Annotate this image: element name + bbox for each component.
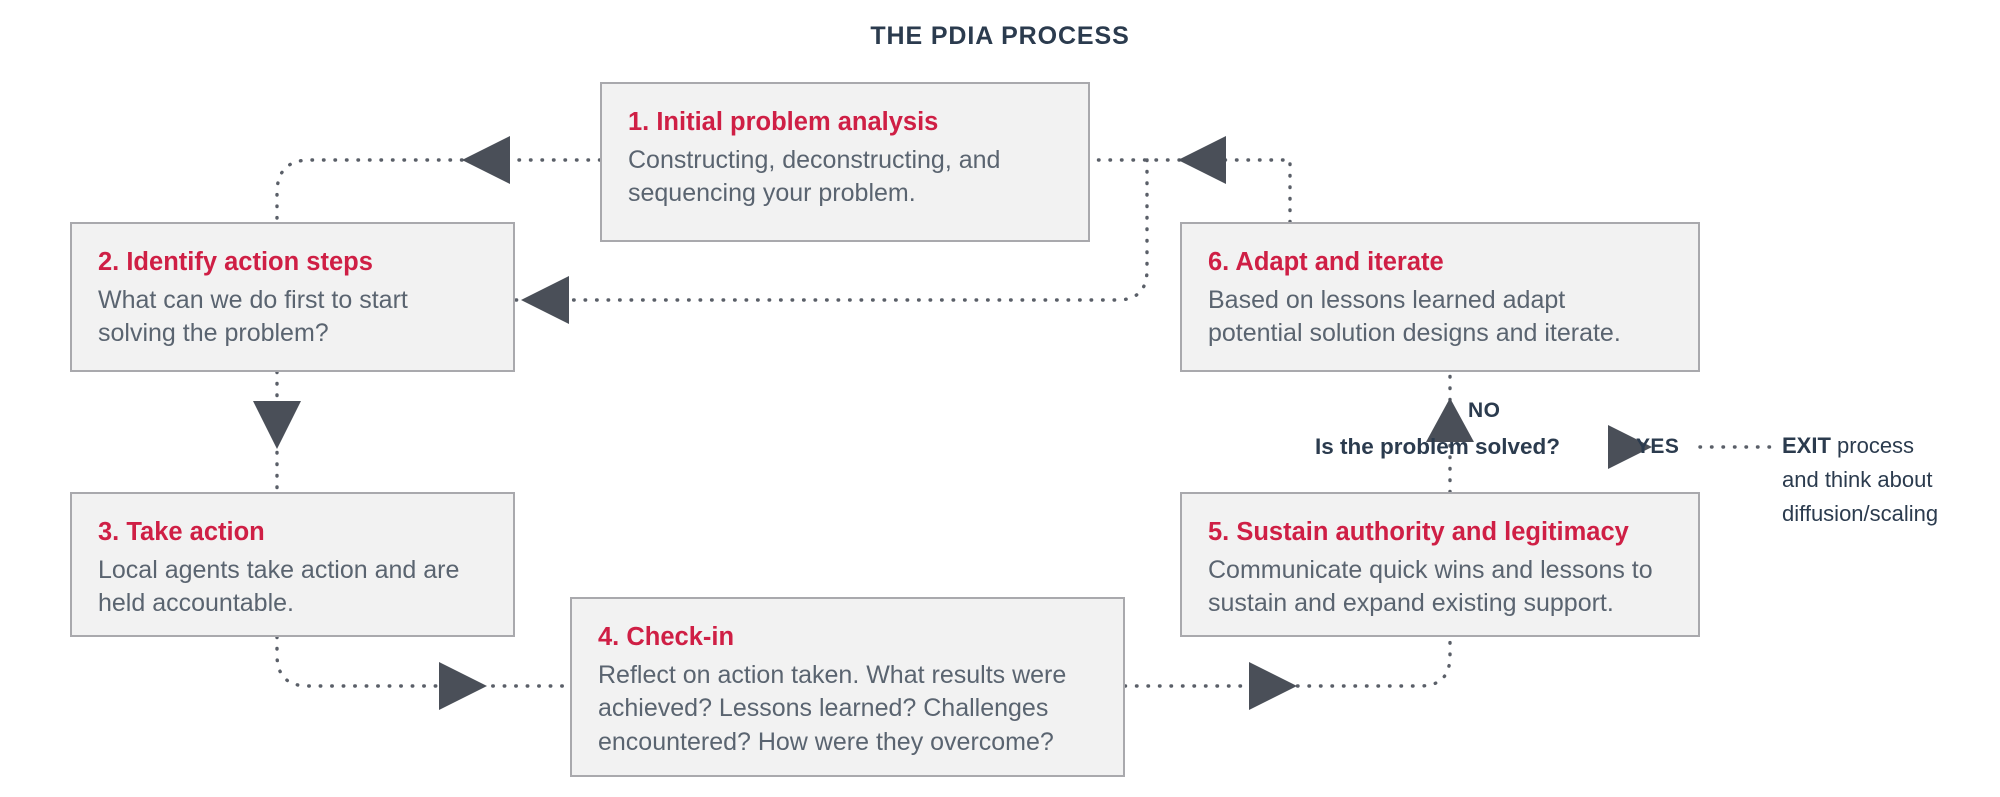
connector-6-to-1 (1090, 160, 1290, 222)
step-1-title: 1. Initial problem analysis (628, 106, 1062, 139)
arrowhead-into-step-3 (253, 401, 301, 449)
step-1-body: Constructing, deconstructing, and sequen… (628, 144, 1062, 211)
exit-note: EXIT process and think about diffusion/s… (1782, 429, 1992, 531)
exit-strong-label: EXIT (1782, 433, 1831, 458)
connector-3-to-4 (277, 637, 570, 686)
arrowhead-into-step-5 (1249, 662, 1297, 710)
step-4-title: 4. Check-in (598, 621, 1097, 654)
step-2-body-line-1: What can we do first to start (98, 284, 487, 318)
step-4-body-line-3: encountered? How were they overcome? (598, 726, 1097, 760)
decision-yes-label: YES (1636, 435, 1679, 459)
arrowhead-into-step-4 (439, 662, 487, 710)
step-4-body: Reflect on action taken. What results we… (598, 659, 1097, 760)
step-6-body-line-1: Based on lessons learned adapt (1208, 284, 1672, 318)
step-6-body: Based on lessons learned adapt potential… (1208, 284, 1672, 351)
step-5-body: Communicate quick wins and lessons to su… (1208, 554, 1672, 621)
exit-line-2: and think about (1782, 463, 1992, 497)
step-5-body-line-2: sustain and expand existing support. (1208, 587, 1672, 621)
step-3-title: 3. Take action (98, 516, 487, 549)
step-3-box[interactable]: 3. Take action Local agents take action … (70, 492, 515, 637)
step-2-title: 2. Identify action steps (98, 246, 487, 279)
step-3-body-line-2: held accountable. (98, 587, 487, 621)
decision-no-label: NO (1468, 399, 1500, 423)
step-3-body: Local agents take action and are held ac… (98, 554, 487, 621)
step-5-body-line-1: Communicate quick wins and lessons to (1208, 554, 1672, 588)
arrowhead-into-step-1-right (1178, 136, 1226, 184)
step-6-title: 6. Adapt and iterate (1208, 246, 1672, 279)
step-2-body-line-2: solving the problem? (98, 317, 487, 351)
exit-line-1: EXIT process (1782, 429, 1992, 463)
decision-question-label: Is the problem solved? (1315, 434, 1560, 460)
arrowhead-into-step-2-top (462, 136, 510, 184)
step-6-body-line-2: potential solution designs and iterate. (1208, 317, 1672, 351)
exit-line-1-rest: process (1831, 433, 1914, 458)
step-1-body-line-1: Constructing, deconstructing, and (628, 144, 1062, 178)
step-4-body-line-2: achieved? Lessons learned? Challenges (598, 692, 1097, 726)
connector-1-to-2-top (277, 160, 600, 222)
step-1-box[interactable]: 1. Initial problem analysis Constructing… (600, 82, 1090, 242)
connector-4-to-5 (1125, 637, 1450, 686)
step-3-body-line-1: Local agents take action and are (98, 554, 487, 588)
step-5-box[interactable]: 5. Sustain authority and legitimacy Comm… (1180, 492, 1700, 637)
step-2-box[interactable]: 2. Identify action steps What can we do … (70, 222, 515, 372)
step-1-body-line-2: sequencing your problem. (628, 177, 1062, 211)
step-2-body: What can we do first to start solving th… (98, 284, 487, 351)
step-4-body-line-1: Reflect on action taken. What results we… (598, 659, 1097, 693)
exit-line-3: diffusion/scaling (1782, 497, 1992, 531)
pdia-diagram: THE PDIA PROCESS (0, 0, 2000, 797)
step-6-box[interactable]: 6. Adapt and iterate Based on lessons le… (1180, 222, 1700, 372)
step-4-box[interactable]: 4. Check-in Reflect on action taken. Wha… (570, 597, 1125, 777)
step-5-title: 5. Sustain authority and legitimacy (1208, 516, 1672, 549)
arrowhead-into-step-2-right (521, 276, 569, 324)
